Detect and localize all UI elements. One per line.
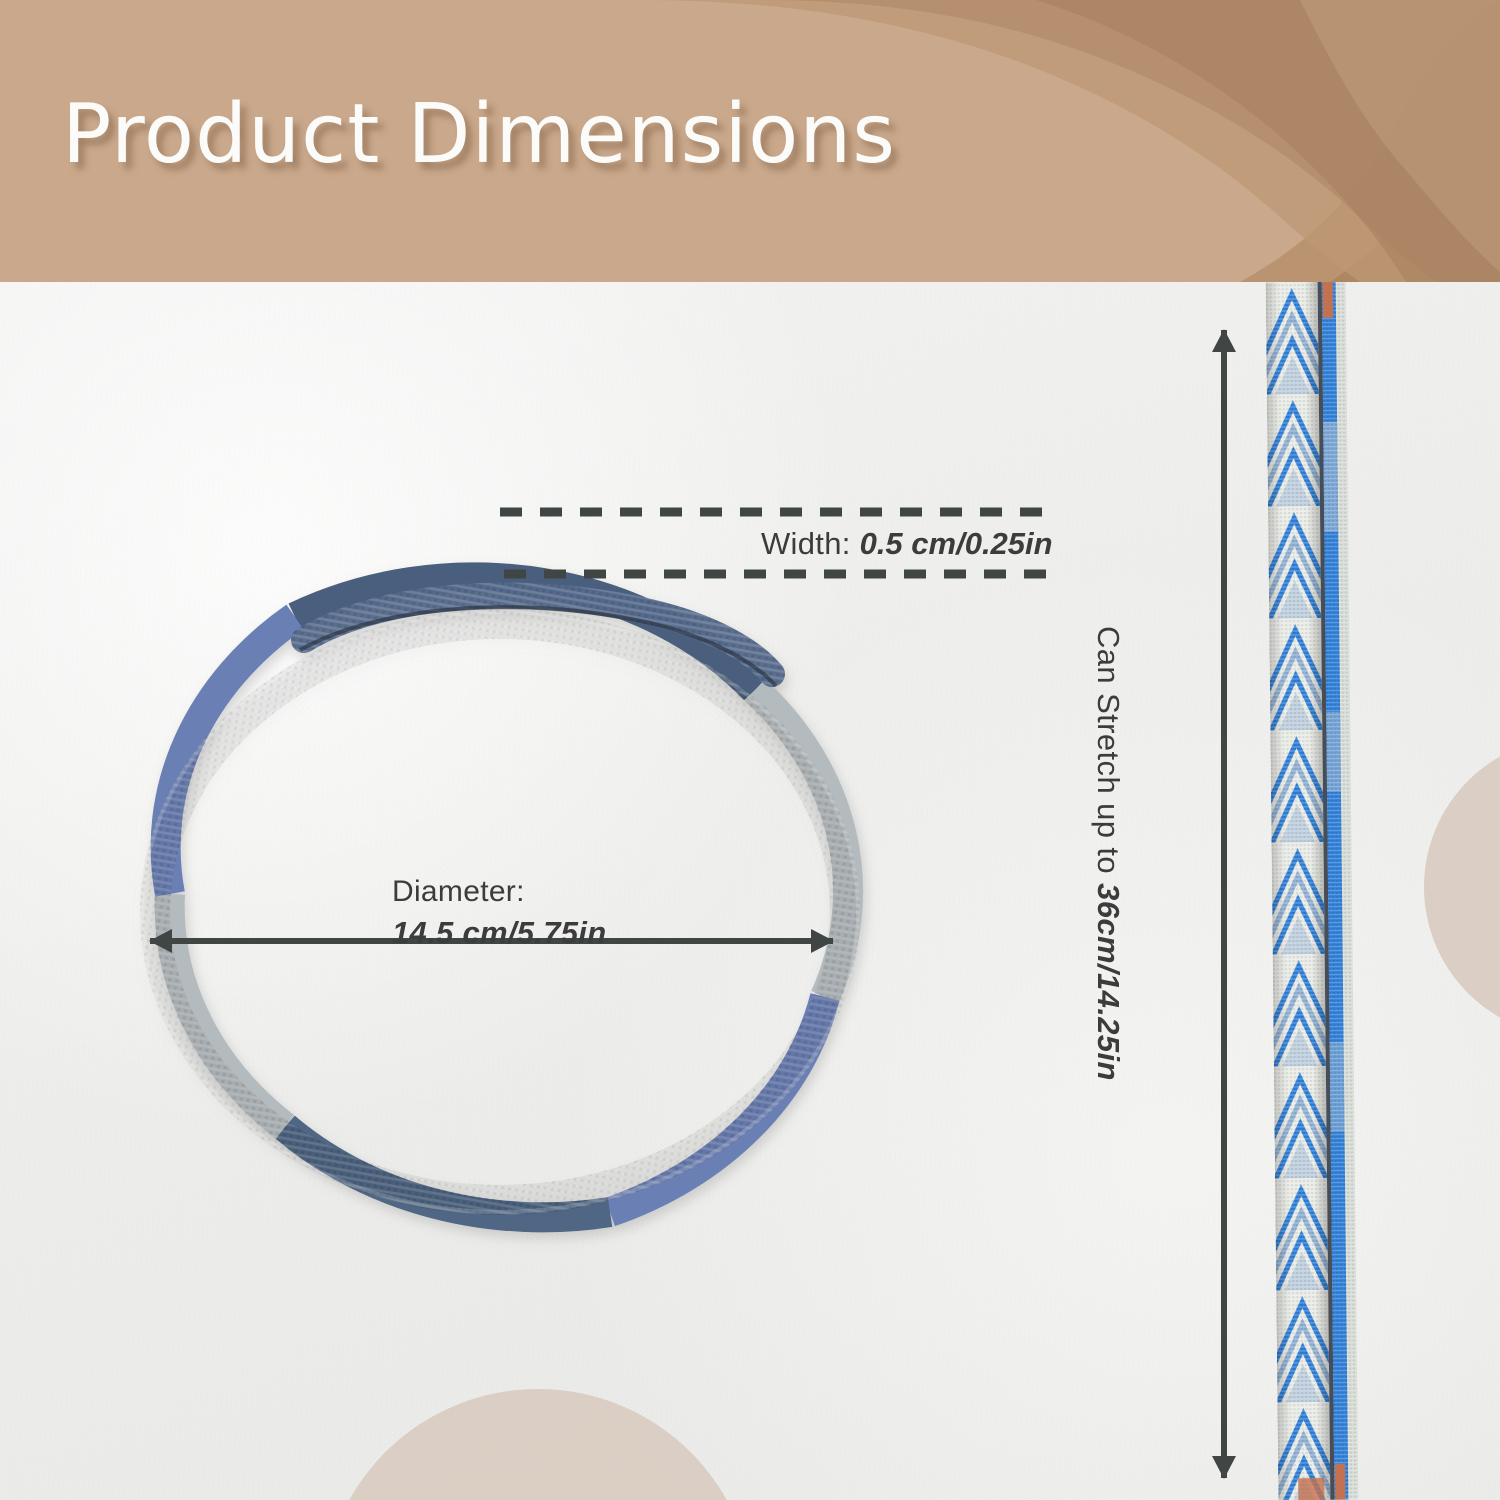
product-dimensions-infographic: Product Dimensions: [0, 0, 1500, 1500]
page-title: Product Dimensions: [62, 92, 896, 178]
stretched-elastic-band: [1266, 282, 1363, 1500]
stretch-label-text: Can Stretch up to: [1091, 626, 1126, 883]
band-chevron-pattern: [1266, 282, 1363, 1500]
diameter-value: 14.5 cm/5.75in: [392, 912, 606, 953]
stretch-label: Can Stretch up to 36cm/14.25in: [1090, 626, 1126, 1226]
diameter-label: Diameter: 14.5 cm/5.75in: [392, 872, 606, 953]
stretch-value: 36cm/14.25in: [1091, 883, 1126, 1081]
header-banner: Product Dimensions: [0, 0, 1500, 282]
width-value: 0.5 cm/0.25in: [860, 526, 1053, 561]
width-label: Width: 0.5 cm/0.25in: [761, 526, 1053, 562]
diameter-label-text: Diameter:: [392, 875, 525, 908]
product-photo-area: [0, 282, 1500, 1500]
width-label-text: Width:: [761, 526, 851, 561]
